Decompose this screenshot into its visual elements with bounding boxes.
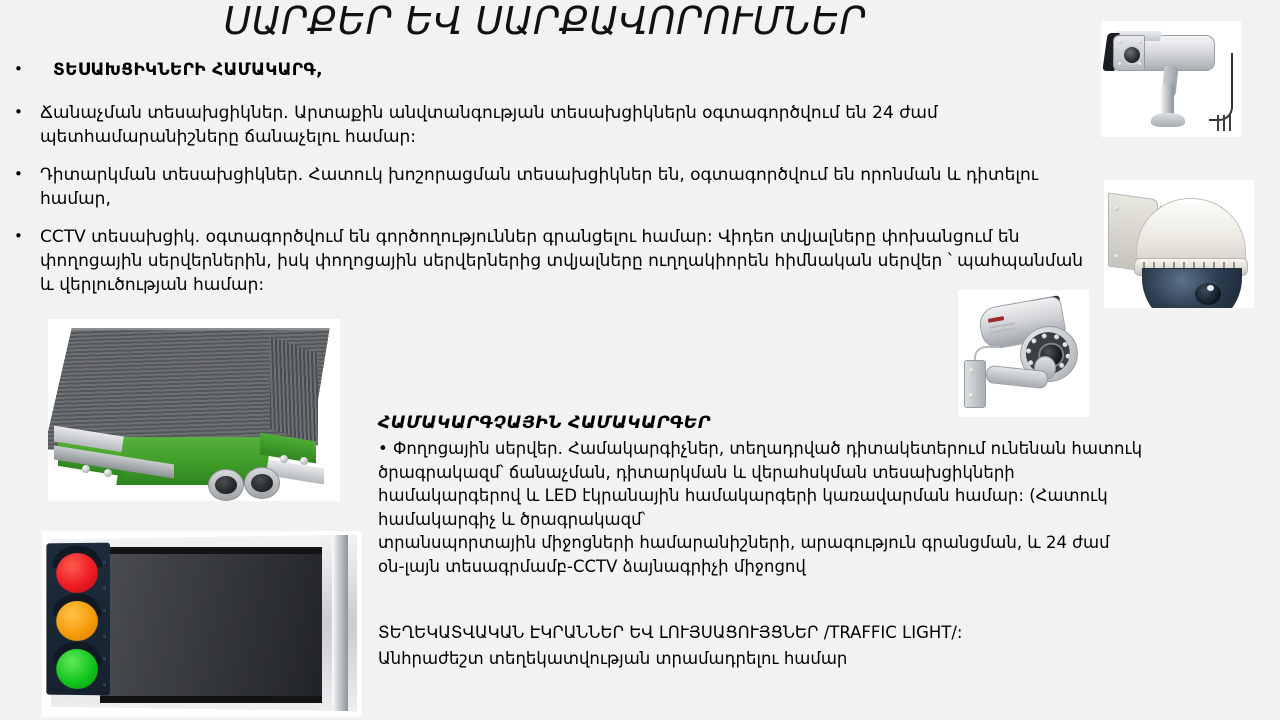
ir-led-icon [1041,333,1047,339]
heatsink-side-edge [270,336,318,445]
camera-cable [1209,53,1233,121]
camera-wire [1223,115,1225,131]
traffic-light-green-lamp [54,647,100,691]
traffic-light-led-screen-photo [42,531,362,717]
paragraph-line: ծրագրակազմ՝ ճանաչման, դիտարկման և վերահս… [378,461,1278,485]
lens-glint [1207,285,1214,291]
section-line: Անհրաժեշտ տեղեկատվության տրամադրելու համ… [378,646,1278,672]
list-item: • Ճանաչման տեսախցիկներ. Արտաքին անվտանգո… [8,101,1086,149]
rivet-icon [103,635,106,638]
bolt-icon [300,457,308,465]
bullet-marker-icon: • [8,101,40,124]
brand-mark [988,316,1004,323]
ir-led-icon [1118,40,1122,44]
list-item: • ՏԵՍԱԽՑԻԿՆԵՐԻ ՀԱՄԱԿԱՐԳ, [8,58,1086,82]
ir-led-icon [1028,360,1034,366]
lamp-bulb [56,553,98,593]
paragraph-line: տրանսպորտային միջոցների համարանիշների, ա… [378,531,1278,555]
bolt-icon [82,465,90,473]
infrared-bullet-camera-photo [958,290,1089,417]
bracket-screw-icon [1114,254,1119,259]
bracket-screw-icon [969,393,974,398]
paragraph-line: համակարգերով և LED էկրանային համակարգերի… [378,484,1278,508]
paragraph-line: օն-լայն տեսագրմամբ-CCTV ձայնագրիչի միջոց… [378,555,1278,579]
bullet-list: • ՏԵՍԱԽՑԻԿՆԵՐԻ ՀԱՄԱԿԱՐԳ, • Ճանաչման տեսա… [8,58,1086,310]
ir-led-icon [1054,334,1060,340]
dome-bubble-glass [1142,268,1242,308]
traffic-light-amber-lamp [54,599,100,643]
rivet-icon [103,657,106,660]
ir-led-icon [1026,348,1032,354]
section-paragraph: • Փողոցային սերվեր. Համակարգիչներ, տեղադ… [378,437,1278,578]
ptz-dome-camera-photo [1104,180,1254,308]
page-title: ՍԱՐՔԵՐ ԵՎ ՍԱՐՔԱՎՈՐՈՒՄՆԵՐ [0,2,1090,42]
traffic-light-section: ՏԵՂԵԿԱՏՎԱԿԱՆ ԷԿՐԱՆՆԵՐ ԵՎ ԼՈՒՅՍԱՑՈՒՅՑՆԵՐ … [378,620,1278,672]
rivet-icon [103,561,106,564]
paragraph-line: • Փողոցային սերվեր. Համակարգիչներ, տեղադ… [378,437,1278,461]
ir-led-icon [1118,62,1122,66]
bracket-screw-icon [969,368,974,373]
ir-led-icon [1138,62,1142,66]
bullet-text: Ճանաչման տեսախցիկներ. Արտաքին անվտանգութ… [40,101,1086,149]
led-display-screen [100,547,322,703]
connector-port [208,469,244,501]
rivet-icon [103,609,106,612]
paragraph-line: համակարգիչ և ծրագրակազմ՝ [378,508,1278,532]
bullet-marker-icon: • [8,163,40,186]
list-item: • Դիտարկման տեսախցիկներ. Հատուկ խոշորացմ… [8,163,1086,211]
bullet-text: ՏԵՍԱԽՑԻԿՆԵՐԻ ՀԱՄԱԿԱՐԳ, [40,58,1086,82]
camera-mount-base [1151,113,1185,127]
camera-wire [1229,115,1231,131]
camera-front-face [1113,35,1145,71]
computer-systems-section: ՀԱՄԱԿԱՐԳՉԱՅԻՆ ՀԱՄԱԿԱՐԳԵՐ • Փողոցային սեր… [378,412,1278,578]
bolt-icon [280,455,288,463]
slide-canvas: ՍԱՐՔԵՐ ԵՎ ՍԱՐՔԱՎՈՐՈՒՄՆԵՐ • ՏԵՍԱԽՑԻԿՆԵՐԻ … [0,0,1280,720]
ir-led-icon [1031,338,1037,344]
rivet-icon [103,587,106,590]
ir-led-icon [1138,40,1142,44]
section-line: ՏԵՂԵԿԱՏՎԱԿԱՆ ԷԿՐԱՆՆԵՐ ԵՎ ԼՈՒՅՍԱՑՈՒՅՑՆԵՐ … [378,620,1278,646]
list-item: • CCTV տեսախցիկ. օգտագործվում են գործողո… [8,225,1086,297]
bullet-marker-icon: • [8,58,40,81]
bullet-text: CCTV տեսախցիկ. օգտագործվում են գործողութ… [40,225,1086,297]
traffic-light-housing [46,543,110,696]
traffic-light-red-lamp [54,551,100,595]
ir-led-icon [1065,353,1071,359]
camera-wire [1217,115,1219,131]
lamp-bulb [56,649,98,689]
bullet-text: Դիտարկման տեսախցիկներ. Հատուկ խոշորացման… [40,163,1086,211]
street-server-heatsink-photo [48,319,340,501]
label-line [990,327,1016,333]
section-heading: ՀԱՄԱԿԱՐԳՉԱՅԻՆ ՀԱՄԱԿԱՐԳԵՐ [378,412,1278,434]
ir-led-icon [1062,342,1068,348]
screen-support-post [332,535,348,711]
bullet-box-cctv-camera-photo [1101,21,1241,137]
lamp-bulb [56,601,98,641]
camera-mount-pole [1161,83,1174,117]
bullet-marker-icon: • [8,225,40,248]
connector-port [244,467,280,499]
bolt-icon [104,469,112,477]
rivet-icon [103,683,106,686]
camera-wall-plate [964,360,986,408]
bracket-screw-icon [1114,206,1119,211]
